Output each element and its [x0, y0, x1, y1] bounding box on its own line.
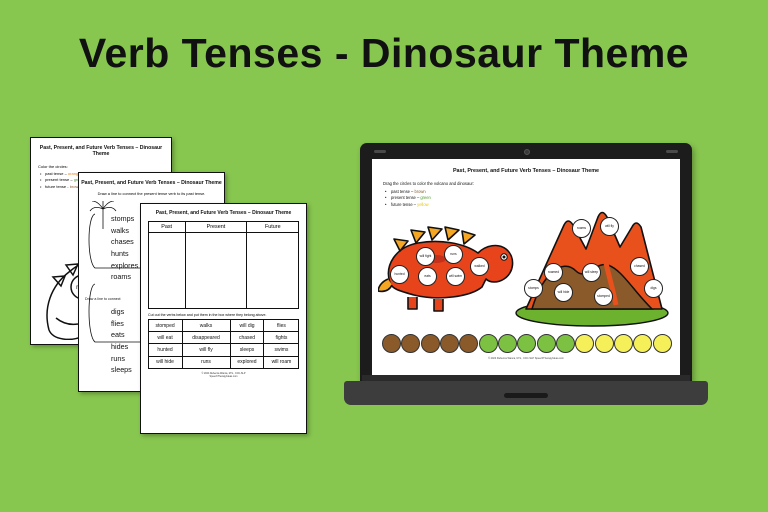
word-circle[interactable]: eats — [418, 267, 437, 286]
worksheet-2-word-column-present: stomps walks chases hunts explores roams — [111, 213, 138, 283]
word-circle[interactable]: digs — [644, 279, 663, 298]
word-circle[interactable]: roams — [572, 219, 591, 238]
word-item[interactable]: runs — [111, 353, 132, 365]
verb-cell[interactable]: hunted — [148, 344, 182, 356]
laptop-screen[interactable]: Past, Present, and Future Verb Tenses – … — [372, 159, 680, 375]
verb-cell[interactable]: walks — [182, 320, 230, 332]
worksheet-1-title: Past, Present, and Future Verb Tenses – … — [31, 145, 171, 157]
verb-cell[interactable]: fights — [264, 332, 299, 344]
legend-value-past: brown — [414, 189, 425, 194]
word-circle[interactable]: will fly — [600, 217, 619, 236]
page-title: Verb Tenses - Dinosaur Theme — [0, 30, 768, 77]
verb-cell[interactable]: swims — [264, 344, 299, 356]
worksheet-3-cut-instruction: Cut out the verbs below and put them in … — [148, 313, 306, 317]
color-swatch[interactable] — [537, 334, 556, 353]
verb-cell[interactable]: will roam — [264, 356, 299, 368]
verb-cell[interactable]: sleeps — [230, 344, 264, 356]
table-row — [148, 233, 299, 309]
worksheet-3[interactable]: Past, Present, and Future Verb Tenses – … — [140, 203, 307, 434]
color-swatch[interactable] — [459, 334, 478, 353]
verb-cell[interactable]: will fly — [182, 344, 230, 356]
legend-value-present: green — [420, 195, 430, 200]
color-swatch[interactable] — [382, 334, 401, 353]
poster-canvas: Verb Tenses - Dinosaur Theme Past, Prese… — [0, 0, 768, 512]
table-header-present: Present — [185, 222, 247, 233]
word-item[interactable]: sleeps — [111, 364, 132, 376]
word-circle[interactable]: chased — [630, 257, 649, 276]
color-swatch[interactable] — [556, 334, 575, 353]
color-swatch[interactable] — [575, 334, 594, 353]
verb-cell[interactable]: runs — [182, 356, 230, 368]
word-circle[interactable]: will sleep — [582, 263, 601, 282]
table-header-future: Future — [247, 222, 299, 233]
worksheet-1-instruction-text: Color the circles: — [38, 164, 171, 170]
color-swatch[interactable] — [653, 334, 672, 353]
worksheet-3-footer: © 2024 Rebecca Wanca, M.S., CCC-SLP Spee… — [141, 372, 306, 379]
table-row: hunted will fly sleeps swims — [148, 344, 299, 356]
word-circle[interactable]: will fight — [416, 247, 435, 266]
verb-cell[interactable]: will dig — [230, 320, 264, 332]
word-item[interactable]: digs — [111, 306, 132, 318]
laptop-mockup: Past, Present, and Future Verb Tenses – … — [344, 143, 708, 421]
word-item[interactable]: flies — [111, 318, 132, 330]
worksheet-2-instruction-bottom: Draw a line to connect — [85, 297, 121, 301]
color-swatch[interactable] — [479, 334, 498, 353]
word-item[interactable]: hunts — [111, 248, 138, 260]
table-row: stomped walks will dig flies — [148, 320, 299, 332]
word-item[interactable]: walks — [111, 225, 138, 237]
color-swatch[interactable] — [595, 334, 614, 353]
laptop-lid: Past, Present, and Future Verb Tenses – … — [360, 143, 692, 387]
verb-tense-sorting-table[interactable]: Past Present Future — [148, 221, 300, 309]
screen-footer: © 2024 Rebecca Wanca, M.S., CCC-SLP Spee… — [372, 357, 680, 360]
word-item[interactable]: chases — [111, 236, 138, 248]
word-item[interactable]: explores — [111, 260, 138, 272]
verb-cell[interactable]: flies — [264, 320, 299, 332]
color-swatch-row[interactable] — [382, 333, 672, 353]
footer-website: SpeechTherapyIdeas.com — [141, 375, 306, 379]
word-item[interactable]: eats — [111, 329, 132, 341]
worksheet-2-title: Past, Present, and Future Verb Tenses – … — [79, 180, 224, 186]
color-swatch[interactable] — [633, 334, 652, 353]
table-row: will hide runs explored will roam — [148, 356, 299, 368]
worksheet-3-title: Past, Present, and Future Verb Tenses – … — [141, 210, 306, 216]
color-swatch[interactable] — [614, 334, 633, 353]
word-circle[interactable]: will swim — [446, 267, 465, 286]
worksheet-2-instruction-top: Draw a line to connect the present tense… — [79, 191, 224, 196]
verb-cell[interactable]: explored — [230, 356, 264, 368]
legend-value-future: yellow — [417, 202, 428, 207]
word-circle[interactable]: stomped — [594, 287, 613, 306]
verb-cell[interactable]: disappeared — [182, 332, 230, 344]
word-item[interactable]: stomps — [111, 213, 138, 225]
screen-worksheet-title: Past, Present, and Future Verb Tenses – … — [372, 168, 680, 174]
color-swatch[interactable] — [401, 334, 420, 353]
table-header-row: Past Present Future — [148, 222, 299, 233]
screen-instruction-text: Drag the circles to color the volcano an… — [383, 181, 680, 188]
word-circle[interactable]: runs — [444, 245, 463, 264]
verb-cell[interactable]: will eat — [148, 332, 182, 344]
webcam-icon — [524, 149, 530, 155]
cut-out-verb-grid[interactable]: stomped walks will dig flies will eat di… — [148, 319, 300, 369]
word-circle[interactable]: will hide — [554, 283, 573, 302]
color-swatch[interactable] — [440, 334, 459, 353]
word-circle[interactable]: walked — [470, 257, 489, 276]
table-cell-present[interactable] — [185, 233, 247, 309]
screen-instructions: Drag the circles to color the volcano an… — [383, 181, 680, 208]
table-row: will eat disappeared chased fights — [148, 332, 299, 344]
color-swatch[interactable] — [421, 334, 440, 353]
screen-legend: past tense – brown present tense – green… — [383, 189, 680, 209]
color-swatch[interactable] — [498, 334, 517, 353]
table-header-past: Past — [148, 222, 185, 233]
drag-and-drop-activity-area[interactable]: roams will fly chased roamed will sleep … — [372, 207, 680, 327]
verb-cell[interactable]: chased — [230, 332, 264, 344]
word-circle[interactable]: roamed — [544, 263, 563, 282]
word-item[interactable]: hides — [111, 341, 132, 353]
table-cell-future[interactable] — [247, 233, 299, 309]
laptop-trackpad[interactable] — [504, 393, 548, 398]
speaker-grill-left-icon — [374, 150, 386, 153]
word-circle[interactable]: hunted — [390, 265, 409, 284]
table-cell-past[interactable] — [148, 233, 185, 309]
verb-cell[interactable]: will hide — [148, 356, 182, 368]
color-swatch[interactable] — [517, 334, 536, 353]
word-item[interactable]: roams — [111, 271, 138, 283]
worksheet-2-word-column-past: digs flies eats hides runs sleeps — [111, 306, 132, 376]
verb-cell[interactable]: stomped — [148, 320, 182, 332]
speaker-grill-right-icon — [666, 150, 678, 153]
